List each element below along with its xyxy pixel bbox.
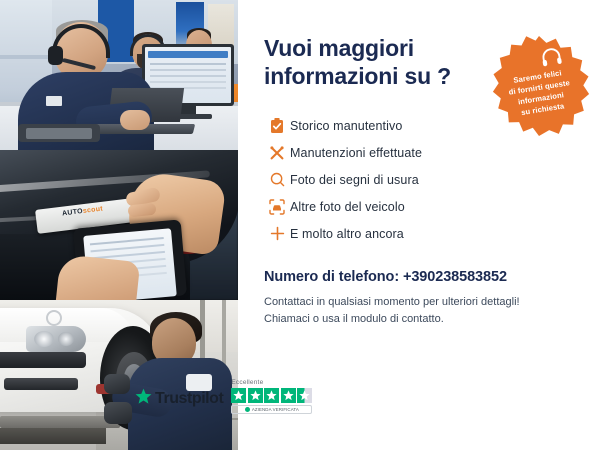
advertisement-banner: AUTOscout xyxy=(0,0,600,450)
rating-star xyxy=(264,388,279,403)
crossed-tools-icon xyxy=(264,145,290,161)
list-item-label: Storico manutentivo xyxy=(290,119,402,133)
contact-description-line-1: Contattaci in qualsiasi momento per ulte… xyxy=(264,296,520,308)
call-center-agents-photo xyxy=(0,0,238,150)
status-badge: AZIENDA VERIFICATA xyxy=(231,405,312,414)
photo-car-emblem xyxy=(46,310,62,326)
list-item: Foto dei segni di usura xyxy=(264,166,578,193)
promo-starburst-badge: Saremo felici di fornirti queste informa… xyxy=(487,34,591,138)
list-item-label: Foto dei segni di usura xyxy=(290,173,419,187)
photo-person-one-badge xyxy=(46,96,62,106)
headline-line-2: informazioni su ? xyxy=(264,63,451,89)
trustpilot-stars xyxy=(231,388,312,403)
contact-description: Contattaci in qualsiasi momento per ulte… xyxy=(264,294,578,327)
photo-car-grille xyxy=(0,352,86,368)
badge-text-block: Saremo felici di fornirti queste informa… xyxy=(480,27,599,146)
photo-car-lower-grille xyxy=(4,378,78,390)
trustpilot-score-block: Eccellente AZIEND xyxy=(231,379,312,414)
verified-check-icon xyxy=(245,407,250,412)
photo-headlight-lens xyxy=(34,331,54,347)
verified-label: AZIENDA VERIFICATA xyxy=(252,407,299,412)
trustpilot-star-icon xyxy=(135,388,152,410)
contact-description-line-2: Chiamaci o usa il modulo di contatto. xyxy=(264,313,444,325)
photo-lift-arm xyxy=(0,416,120,428)
list-item-label: E molto altro ancora xyxy=(290,227,404,241)
photo-headlight-lens-secondary xyxy=(58,332,74,346)
list-item-label: Manutenzioni effettuate xyxy=(290,146,422,160)
plus-icon xyxy=(264,226,290,241)
vehicle-inspection-tablet-photo: AUTOscout xyxy=(0,150,238,300)
clipboard-check-icon xyxy=(264,118,290,134)
photo-person-one-hand xyxy=(120,110,150,130)
mechanic-wheel-lift-photo xyxy=(0,300,238,450)
phone-number[interactable]: Numero di telefono: +390238583852 xyxy=(264,269,578,285)
trustpilot-logo: Trustpilot xyxy=(135,388,223,414)
rating-star xyxy=(231,388,246,403)
trustpilot-rating-label: Eccellente xyxy=(231,379,263,386)
photo-mechanic-glove-lower xyxy=(104,402,132,424)
list-item: Altre foto del veicolo xyxy=(264,193,578,220)
list-item-label: Altre foto del veicolo xyxy=(290,200,405,214)
rating-star-half xyxy=(297,388,312,403)
photo-lift-base xyxy=(0,428,106,444)
photo-mechanic-glove-upper xyxy=(104,374,130,394)
photo-window-bar xyxy=(0,55,52,59)
rating-star xyxy=(281,388,296,403)
magnifier-icon xyxy=(264,172,290,187)
photo-desk-mat-inner xyxy=(26,128,92,139)
list-item: Manutenzioni effettuate xyxy=(264,139,578,166)
page-title: Vuoi maggiori informazioni su ? xyxy=(264,34,464,90)
photo-person-one-earcup xyxy=(48,46,63,65)
headline-line-1: Vuoi maggiori xyxy=(264,35,414,61)
trustpilot-rating[interactable]: Trustpilot Eccellente xyxy=(135,379,312,414)
trustpilot-brand-name: Trustpilot xyxy=(155,390,223,408)
photo-inspector-hand-holding xyxy=(56,254,141,300)
car-scan-icon xyxy=(264,199,290,215)
rating-star xyxy=(248,388,263,403)
list-item: E molto altro ancora xyxy=(264,220,578,247)
